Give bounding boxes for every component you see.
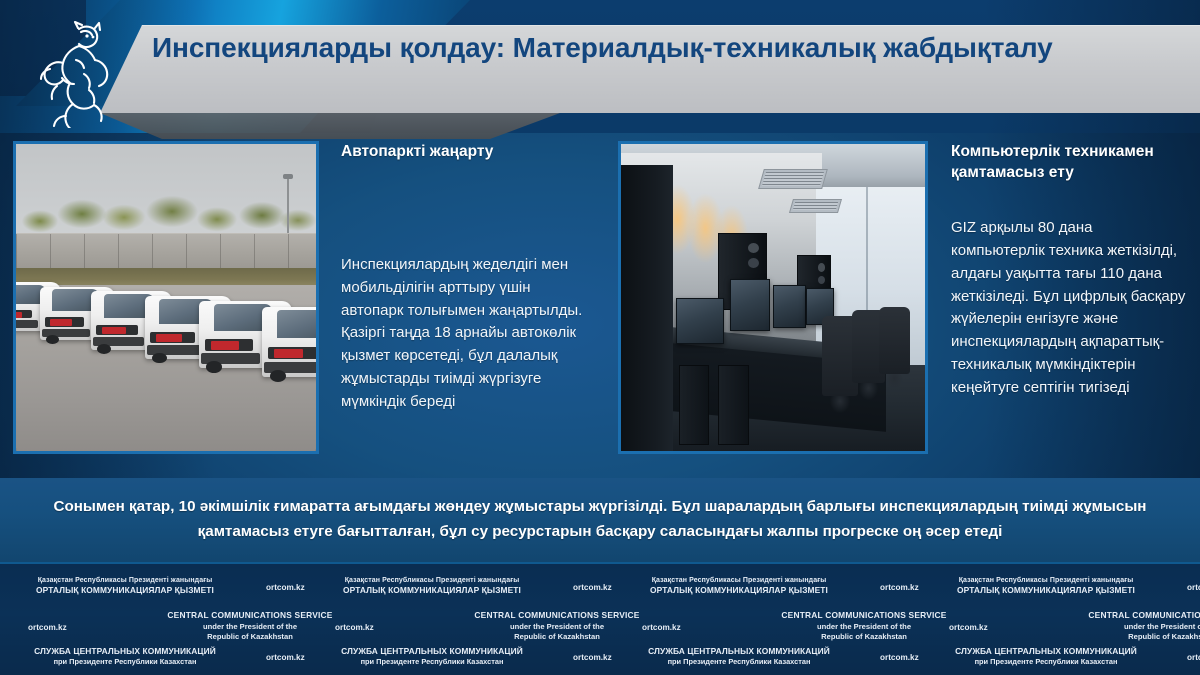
- computer-workstation-room-photo: [618, 141, 928, 454]
- truck: [262, 307, 319, 378]
- footer-brand-ru: СЛУЖБА ЦЕНТРАЛЬНЫХ КОММУНИКАЦИЙпри Прези…: [921, 646, 1171, 667]
- footer-url: ortcom.kz: [880, 653, 919, 662]
- title-banner-fold: [100, 113, 560, 139]
- footer-brand-ru: СЛУЖБА ЦЕНТРАЛЬНЫХ КОММУНИКАЦИЙпри Прези…: [0, 646, 250, 667]
- footer-watermark-strip: Қазақстан Республикасы Президенті жанынд…: [0, 562, 1200, 675]
- footer-brand-ru: СЛУЖБА ЦЕНТРАЛЬНЫХ КОММУНИКАЦИЙпри Прези…: [614, 646, 864, 667]
- monitor: [730, 279, 770, 331]
- footer-brand-kk: Қазақстан Республикасы Президенті жанынд…: [921, 576, 1171, 597]
- page-title: Инспекцияларды қолдау: Материалдық-техни…: [152, 28, 1102, 68]
- footer-url: ortcom.kz: [573, 653, 612, 662]
- footer-url: ortcom.kz: [266, 653, 305, 662]
- footer-url: ortcom.kz: [642, 623, 681, 632]
- computer-tower: [679, 365, 709, 445]
- footer-url: ortcom.kz: [335, 623, 374, 632]
- photo-treeline: [16, 187, 316, 236]
- presentation-slide: Инспекцияларды қолдау: Материалдық-техни…: [0, 0, 1200, 675]
- footer-brand-en: CENTRAL COMMUNICATIONS SERVICEunder the …: [764, 610, 964, 643]
- footer-brand-en: CENTRAL COMMUNICATIONS SERVICEunder the …: [457, 610, 657, 643]
- summary-text: Сонымен қатар, 10 әкімшілік ғимаратта ағ…: [25, 495, 1175, 544]
- footer-brand-kk: Қазақстан Республикасы Президенті жанынд…: [307, 576, 557, 597]
- photo-grass-strip: [16, 268, 316, 286]
- footer-url: ortcom.kz: [880, 583, 919, 592]
- left-column-heading: Автопаркті жаңарту: [341, 141, 589, 162]
- footer-url: ortcom.kz: [28, 623, 67, 632]
- snow-leopard-emblem-icon: [32, 16, 118, 128]
- right-column-heading: Компьютерлік техникамен қамтамасыз ету: [951, 141, 1189, 183]
- ceiling-vent: [789, 199, 842, 213]
- footer-url: ortcom.kz: [1187, 653, 1200, 662]
- footer-brand-grid: Қазақстан Республикасы Президенті жанынд…: [0, 570, 1200, 674]
- monitor: [773, 285, 806, 328]
- left-text-column: Автопаркті жаңарту Инспекциялардың жедел…: [341, 141, 589, 414]
- footer-brand-en: CENTRAL COMMUNICATIONS SERVICEunder the …: [150, 610, 350, 643]
- footer-brand-kk: Қазақстан Республикасы Президенті жанынд…: [614, 576, 864, 597]
- footer-brand-ru: СЛУЖБА ЦЕНТРАЛЬНЫХ КОММУНИКАЦИЙпри Прези…: [307, 646, 557, 667]
- slide-content: Автопаркті жаңарту Инспекциялардың жедел…: [0, 133, 1200, 475]
- footer-brand-en: CENTRAL COMMUNICATIONS SERVICEunder the …: [1071, 610, 1200, 643]
- footer-url: ortcom.kz: [1187, 583, 1200, 592]
- footer-url: ortcom.kz: [949, 623, 988, 632]
- left-column-body: Инспекциялардың жеделдігі мен мобильділі…: [341, 254, 589, 414]
- computer-tower: [718, 365, 748, 445]
- photo-concrete-wall: [16, 233, 316, 270]
- room-foreground-column: [621, 165, 673, 451]
- summary-banner: Сонымен қатар, 10 әкімшілік ғимаратта ағ…: [0, 478, 1200, 562]
- ceiling-vent: [758, 169, 828, 189]
- right-column-body: GIZ арқылы 80 дана компьютерлік техника …: [951, 217, 1189, 399]
- footer-url: ortcom.kz: [266, 583, 305, 592]
- footer-url: ortcom.kz: [573, 583, 612, 592]
- right-text-column: Компьютерлік техникамен қамтамасыз ету G…: [951, 141, 1189, 400]
- monitor: [676, 298, 725, 344]
- office-chair: [879, 307, 909, 375]
- footer-brand-kk: Қазақстан Республикасы Президенті жанынд…: [0, 576, 250, 597]
- white-pickup-truck-fleet-photo: [13, 141, 319, 454]
